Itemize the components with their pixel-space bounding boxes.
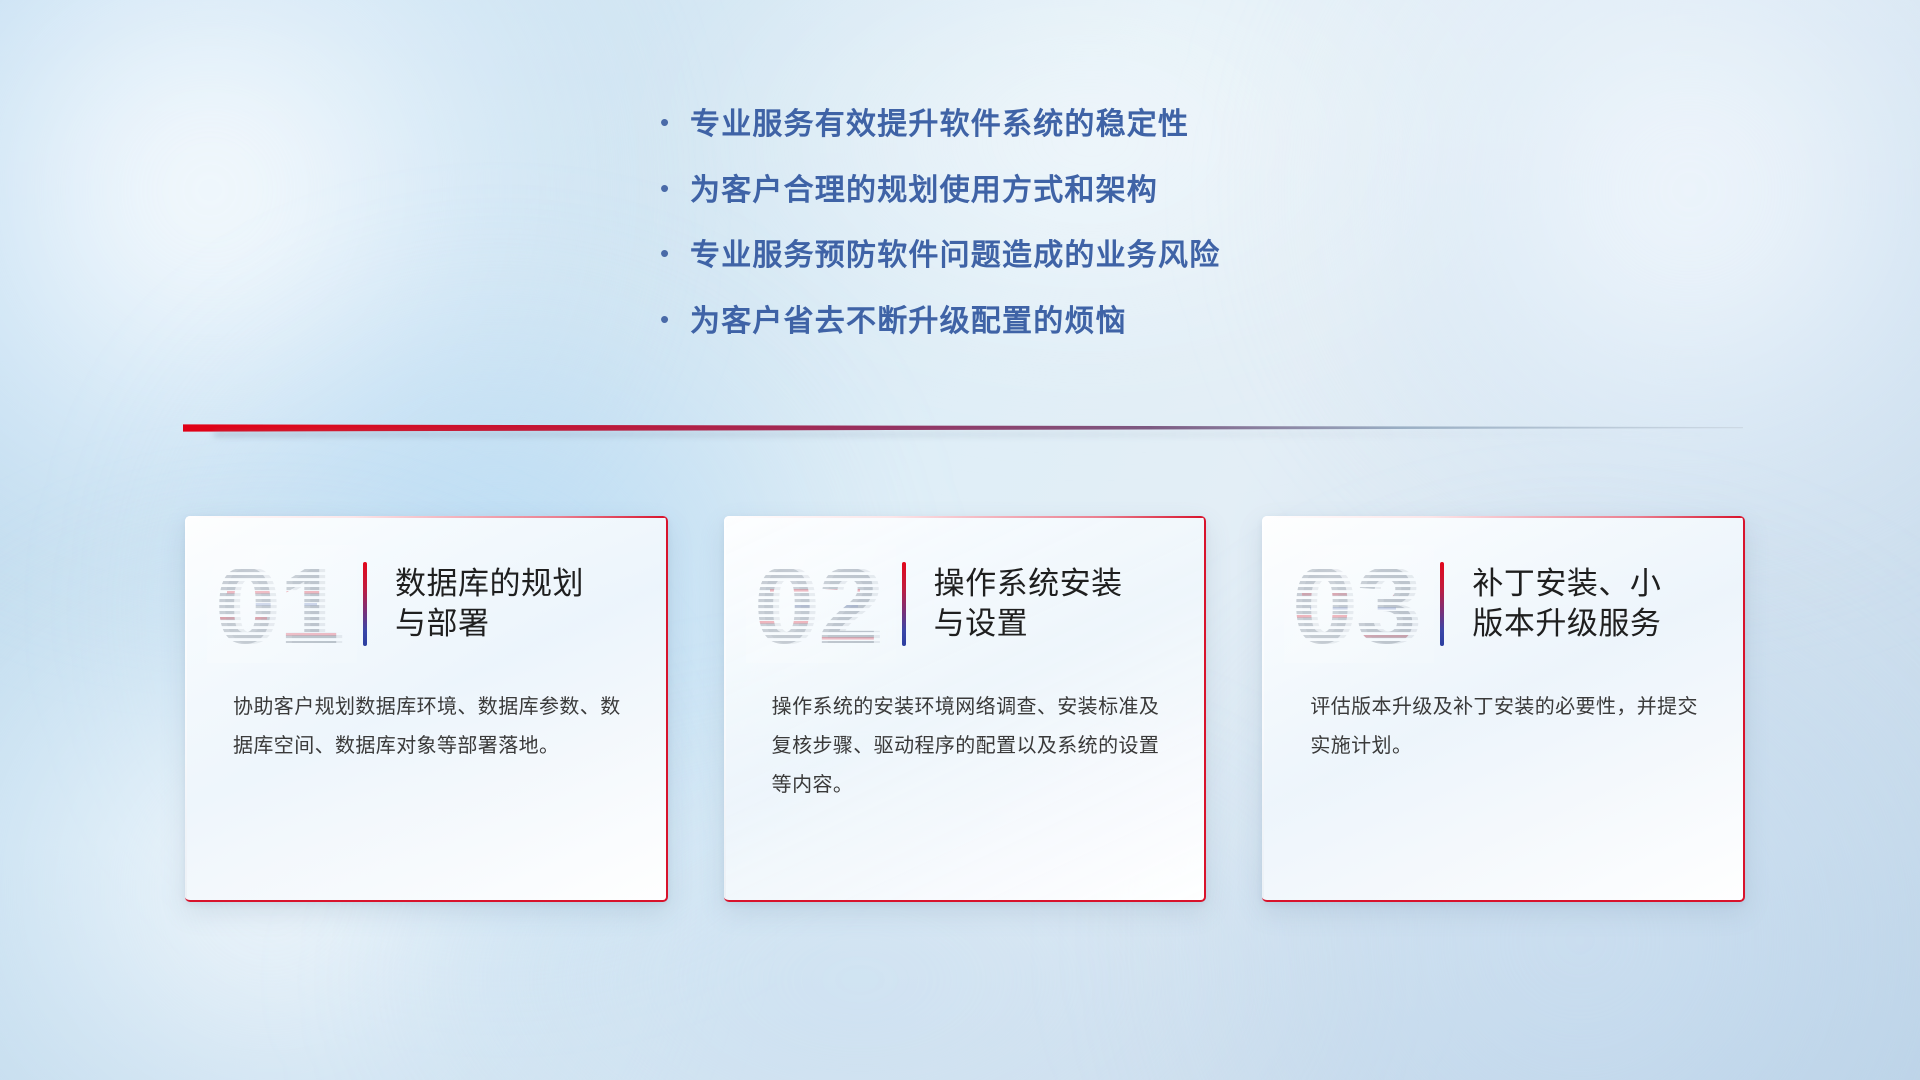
card-title: 操作系统安装 与设置: [934, 564, 1175, 643]
section-divider: [183, 424, 1743, 438]
card-title: 补丁安装、小 版本升级服务: [1472, 564, 1713, 643]
benefits-bullet-list: 专业服务有效提升软件系统的稳定性 为客户合理的规划使用方式和架构 专业服务预防软…: [660, 105, 1480, 367]
bullet-text: 为客户省去不断升级配置的烦恼: [690, 302, 1127, 342]
card-header: 01: [185, 516, 666, 666]
bullet-text: 为客户合理的规划使用方式和架构: [690, 171, 1158, 211]
card-title: 数据库的规划 与部署: [395, 564, 636, 643]
bullet-text: 专业服务有效提升软件系统的稳定性: [690, 105, 1189, 145]
service-card-01[interactable]: 01: [185, 516, 668, 902]
divider-shadow: [214, 432, 1712, 437]
card-accent-bar: [363, 562, 367, 646]
card-number-glitch-icon: 03: [1284, 545, 1434, 663]
list-item: 专业服务预防软件问题造成的业务风险: [660, 236, 1480, 276]
red-taper-divider-icon: [183, 424, 1743, 432]
list-item: 为客户合理的规划使用方式和架构: [660, 171, 1480, 211]
list-item: 专业服务有效提升软件系统的稳定性: [660, 105, 1480, 145]
card-number-glitch-icon: 02: [746, 545, 896, 663]
card-accent-bar: [1440, 562, 1444, 646]
card-number-glitch-icon: 01: [207, 545, 357, 663]
card-header: 02: [724, 516, 1205, 666]
bullet-dot-icon: [660, 109, 690, 135]
bullet-text: 专业服务预防软件问题造成的业务风险: [690, 236, 1220, 276]
service-card-03[interactable]: 03: [1262, 516, 1745, 902]
service-card-02[interactable]: 02: [724, 516, 1207, 902]
bullet-dot-icon: [660, 240, 690, 266]
bullet-dot-icon: [660, 306, 690, 332]
list-item: 为客户省去不断升级配置的烦恼: [660, 302, 1480, 342]
bullet-dot-icon: [660, 175, 690, 201]
card-accent-bar: [902, 562, 906, 646]
card-body-text: 评估版本升级及补丁安装的必要性，并提交实施计划。: [1262, 666, 1743, 766]
card-header: 03: [1262, 516, 1743, 666]
card-body-text: 操作系统的安装环境网络调查、安装标准及复核步骤、驱动程序的配置以及系统的设置等内…: [724, 666, 1205, 805]
card-body-text: 协助客户规划数据库环境、数据库参数、数据库空间、数据库对象等部署落地。: [185, 666, 666, 766]
service-cards-row: 01: [185, 516, 1745, 902]
